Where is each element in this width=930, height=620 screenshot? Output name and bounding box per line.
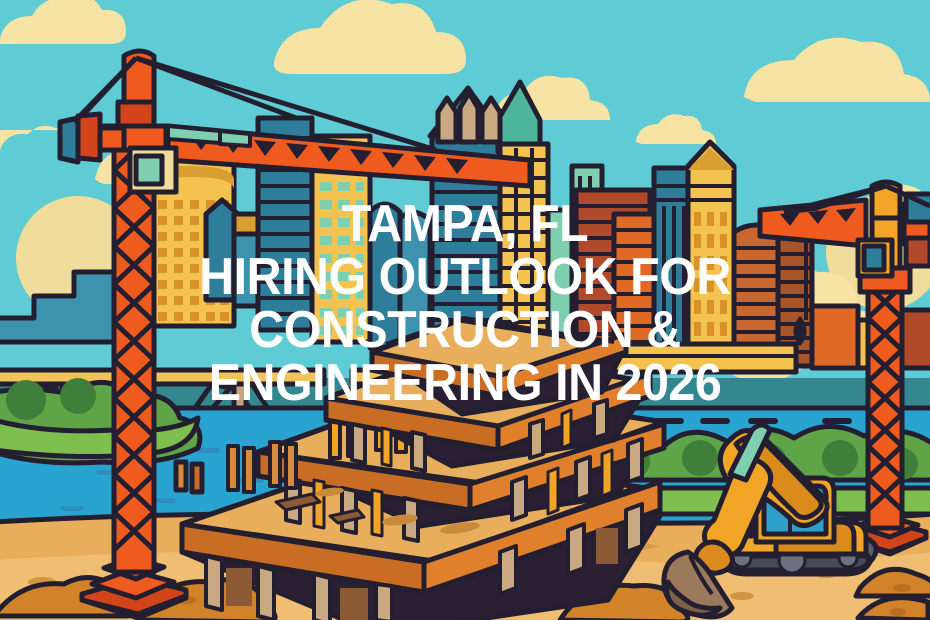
banner-image: TAMPA, FL HIRING OUTLOOK FOR CONSTRUCTIO… xyxy=(0,0,930,620)
illustration-scene xyxy=(0,0,930,620)
landmark-tower xyxy=(430,82,548,356)
